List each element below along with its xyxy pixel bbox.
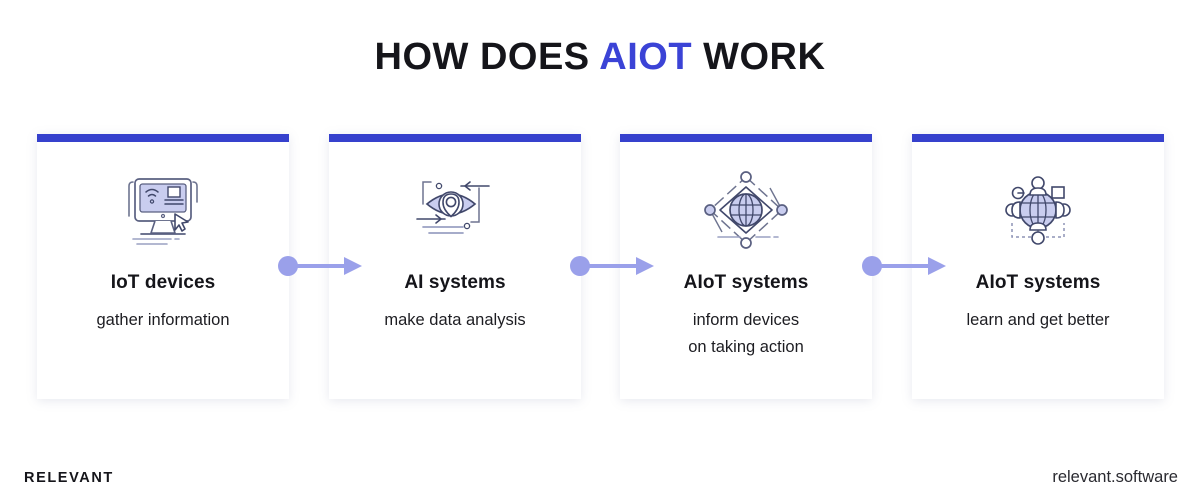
card-title: AIoT systems (630, 272, 862, 294)
card-subtitle: inform devices on taking action (630, 307, 862, 360)
card-top-bar (620, 134, 872, 142)
page-title: HOW DOES AIOT WORK (0, 36, 1200, 79)
card-title: AIoT systems (922, 272, 1154, 294)
card-subtitle: gather information (47, 307, 279, 334)
card-top-bar (329, 134, 581, 142)
page-title-accent: AIOT (599, 36, 692, 78)
card-top-bar (912, 134, 1164, 142)
card-subtitle: learn and get better (922, 307, 1154, 334)
globe-network-diamond-icon (620, 164, 872, 256)
card-title: IoT devices (47, 272, 279, 294)
brand-url[interactable]: relevant.software (1052, 468, 1178, 487)
card-text-block: IoT devices gather information (37, 272, 289, 334)
connector-arrow-2 (568, 253, 660, 279)
connector-arrow-3 (860, 253, 952, 279)
card-text-block: AIoT systems learn and get better (912, 272, 1164, 334)
card-text-block: AI systems make data analysis (329, 272, 581, 334)
card-text-block: AIoT systems inform devices on taking ac… (620, 272, 872, 360)
card-subtitle: make data analysis (339, 307, 571, 334)
card-top-bar (37, 134, 289, 142)
page-title-prefix: HOW DOES (375, 36, 600, 78)
step-card-iot-devices[interactable]: IoT devices gather information (37, 134, 289, 399)
monitor-wifi-icon (37, 164, 289, 256)
page-title-suffix: WORK (692, 36, 825, 78)
brand-logo: RELEVANT (24, 470, 114, 486)
eye-analysis-icon (329, 164, 581, 256)
globe-connected-nodes-icon (912, 164, 1164, 256)
connector-arrow-1 (276, 253, 368, 279)
card-title: AI systems (339, 272, 571, 294)
